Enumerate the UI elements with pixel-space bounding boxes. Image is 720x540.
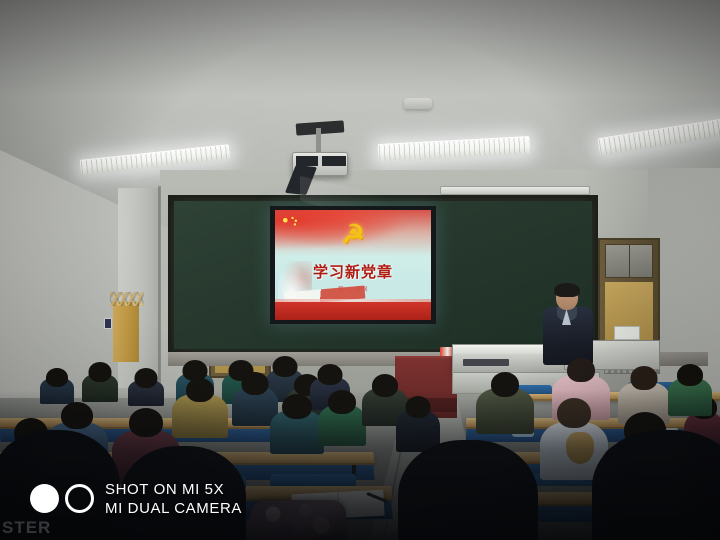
student-head (372, 374, 398, 397)
presenter-hair (554, 283, 580, 297)
slide-title: 学习新党章 (275, 261, 431, 282)
light-switch[interactable] (104, 318, 112, 329)
student-head (129, 408, 163, 437)
projection-screen: ☭ 学习新党章 第一、总纲 (270, 206, 436, 324)
student-head (46, 368, 68, 387)
slide-footer-band (275, 302, 431, 320)
foreground-student-2 (120, 446, 246, 540)
console-slot (463, 359, 509, 366)
student-ponytail (566, 432, 594, 464)
presenter (540, 285, 600, 365)
foreground-student-4 (592, 430, 720, 540)
right-door-glass (605, 244, 653, 278)
projector-mount (316, 128, 321, 154)
student-m4-teal (270, 394, 324, 454)
student-head (242, 372, 269, 395)
student-head (282, 394, 312, 419)
blackboard-light (440, 186, 590, 195)
coat-hooks-icon (110, 292, 144, 306)
student-head (318, 364, 343, 385)
student-head (328, 390, 356, 414)
wall-wood-panel (113, 302, 139, 362)
student-head (406, 396, 431, 418)
student-head (135, 368, 158, 388)
student-m5-green (318, 390, 366, 446)
student-r8-green (668, 364, 712, 416)
classroom-photo: ☭ 学习新党章 第一、总纲 (0, 0, 720, 540)
left-wall-edge (158, 186, 161, 390)
student-head (89, 362, 112, 382)
student-b3 (128, 368, 164, 406)
foreground-student-3 (398, 440, 538, 540)
student-head (631, 366, 658, 390)
door-notice-sign (614, 326, 640, 340)
foreground-shirt-text: STER (2, 518, 51, 538)
slide-content: ☭ 学习新党章 第一、总纲 (275, 210, 431, 320)
student-aisle-left (396, 396, 440, 452)
floral-backpack (250, 500, 346, 540)
chinese-flag-stars-icon (281, 216, 305, 230)
student-r5-ponytail (566, 424, 594, 464)
seat-left-mid-2 (270, 474, 356, 486)
student-b2 (82, 362, 118, 402)
cpc-hammer-sickle-emblem: ☭ (341, 221, 364, 247)
student-head (186, 378, 214, 402)
student-head (61, 402, 93, 429)
student-b1 (40, 368, 74, 404)
student-b7-khaki (172, 378, 228, 438)
student-head (567, 358, 595, 382)
student-head (677, 364, 703, 386)
student-r1-olive (476, 372, 534, 434)
projector-lens-icon (296, 156, 346, 166)
student-head (491, 372, 519, 397)
